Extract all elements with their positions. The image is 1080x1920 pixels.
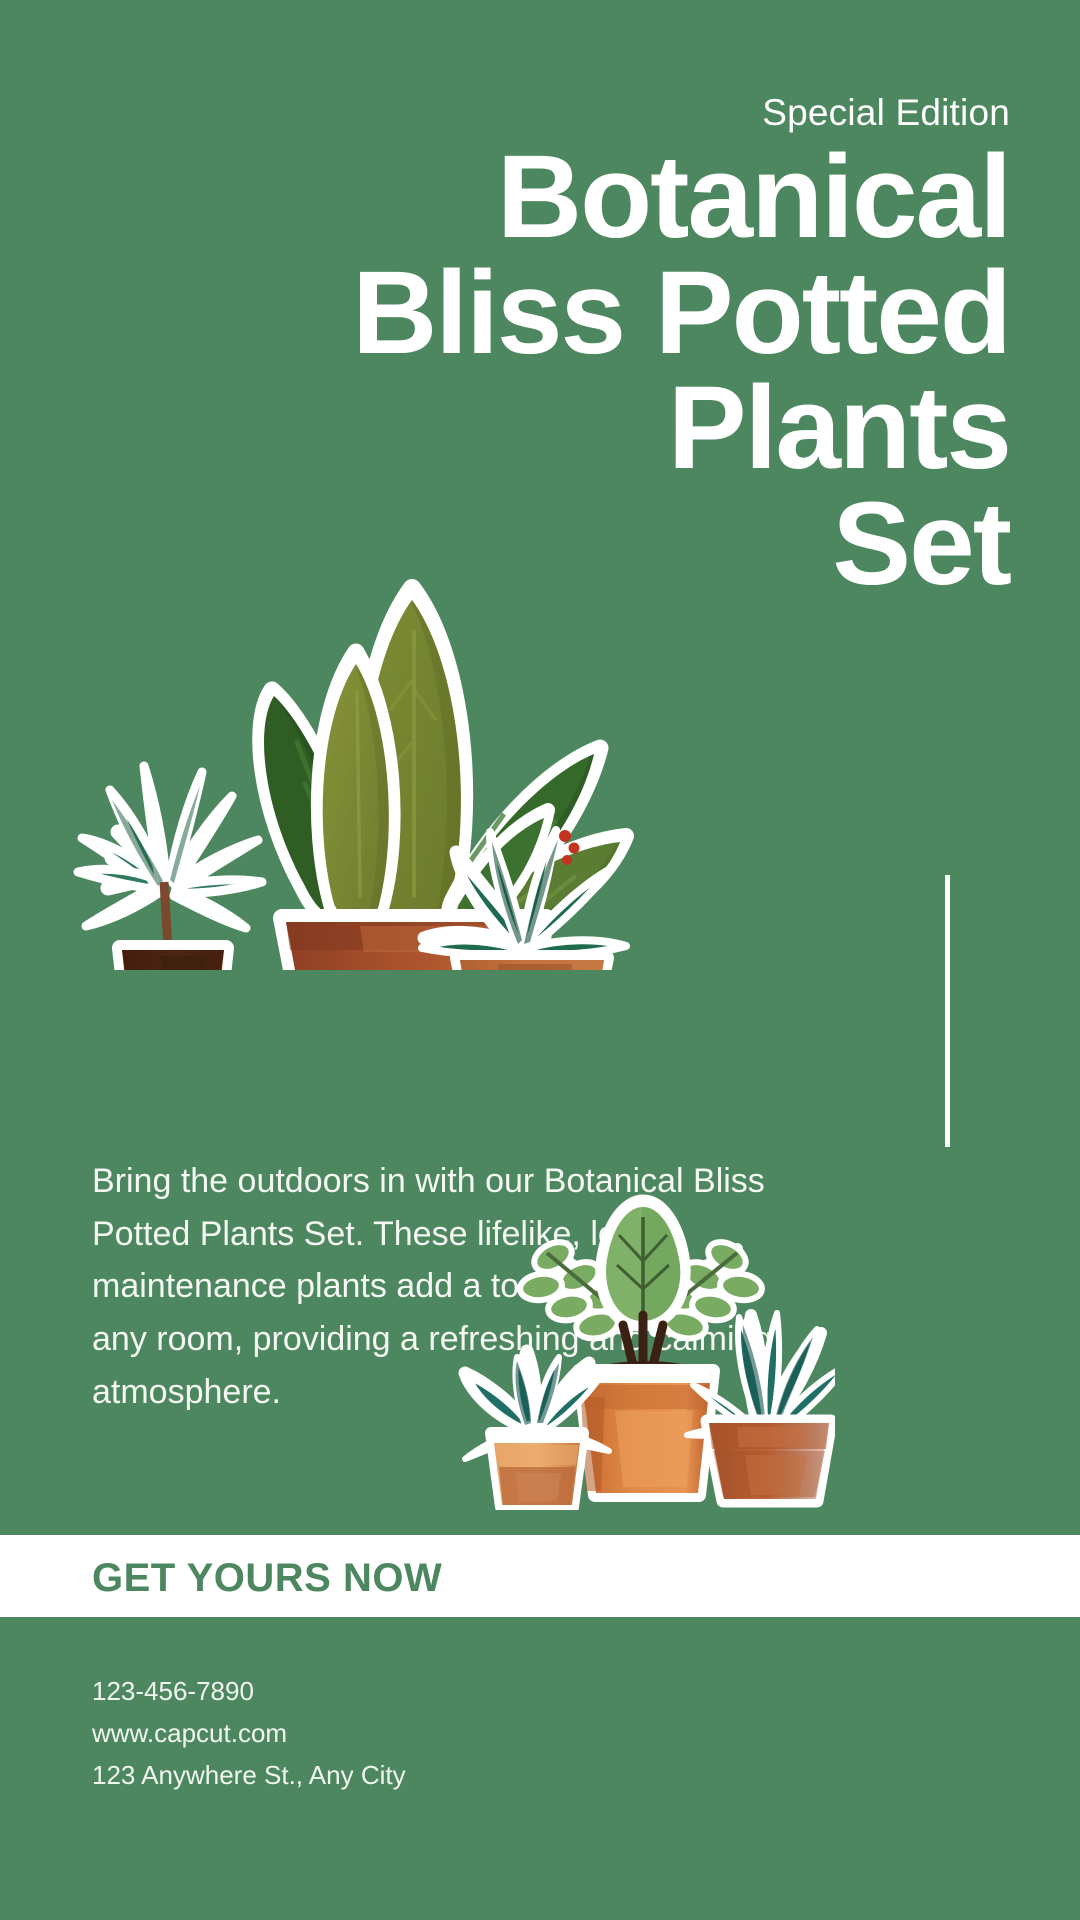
contact-block: 123-456-7890 www.capcut.com 123 Anywhere… — [92, 1670, 406, 1796]
potted-plants-cluster-illustration — [455, 1165, 835, 1510]
vertical-divider — [945, 875, 950, 1147]
title-line-1: Botanical — [70, 140, 1010, 256]
eyebrow-label: Special Edition — [762, 92, 1010, 134]
cta-label[interactable]: GET YOURS NOW — [92, 1556, 442, 1601]
palm-plant-in-terracotta-pot — [78, 766, 262, 970]
title-line-2: Bliss Potted — [70, 256, 1010, 372]
contact-phone[interactable]: 123-456-7890 — [92, 1670, 406, 1712]
contact-address: 123 Anywhere St., Any City — [92, 1754, 406, 1796]
poster-canvas: Special Edition Botanical Bliss Potted P… — [0, 0, 1080, 1920]
contact-website[interactable]: www.capcut.com — [92, 1712, 406, 1754]
potted-plants-trio-illustration — [60, 390, 680, 970]
